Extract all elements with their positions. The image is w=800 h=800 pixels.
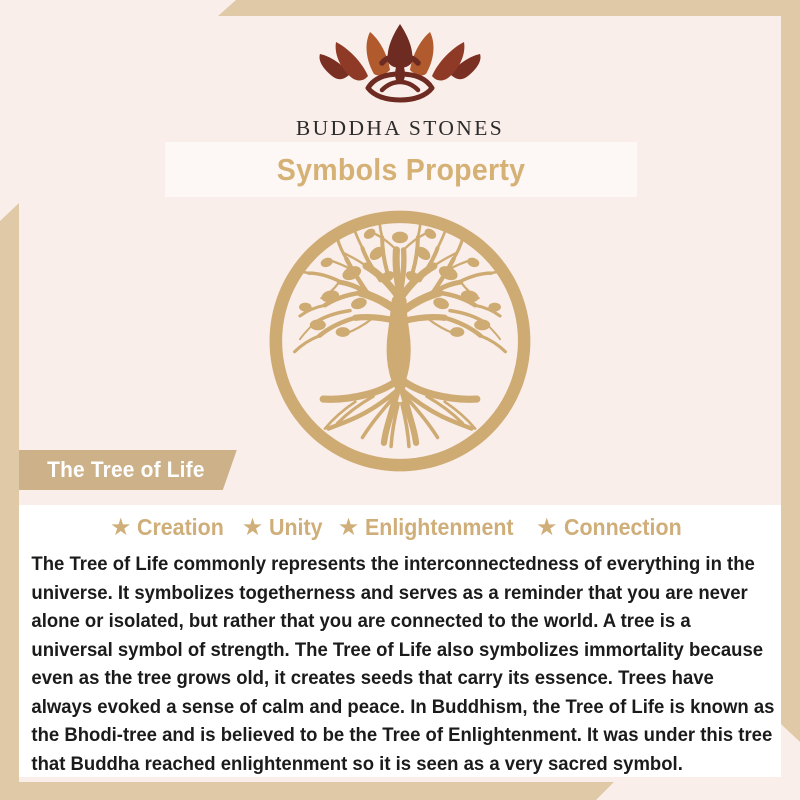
star-icon: ★ <box>242 516 264 540</box>
page-title-band: Symbols Property <box>165 142 637 197</box>
keyword-item: ★ Creation <box>110 514 231 541</box>
section-ribbon: The Tree of Life <box>19 450 237 490</box>
keyword-label: Enlightenment <box>365 514 514 541</box>
keyword-label: Creation <box>137 514 224 541</box>
keyword-label: Unity <box>269 514 322 541</box>
tree-of-life-circle-icon <box>266 207 534 475</box>
lotus-meditation-figure-icon <box>312 20 488 112</box>
symbols-property-infographic: BUDDHA STONES Symbols Property <box>0 0 800 800</box>
star-icon: ★ <box>338 516 360 540</box>
content-card: ★ Creation ★ Unity ★ Enlightenment ★ Con… <box>19 505 781 777</box>
brand-logo: BUDDHA STONES <box>0 20 800 141</box>
keyword-item: ★ Connection <box>536 514 690 541</box>
star-icon: ★ <box>536 516 558 540</box>
section-body-text: The Tree of Life commonly represents the… <box>19 550 789 778</box>
page-title: Symbols Property <box>277 152 526 188</box>
keyword-list: ★ Creation ★ Unity ★ Enlightenment ★ Con… <box>19 514 781 541</box>
keyword-item: ★ Unity <box>242 514 327 541</box>
star-icon: ★ <box>110 516 132 540</box>
keyword-label: Connection <box>564 514 682 541</box>
frame-band-bottom <box>0 782 614 800</box>
keyword-item: ★ Enlightenment <box>338 514 525 541</box>
frame-band-top <box>218 0 800 16</box>
brand-name: BUDDHA STONES <box>296 116 504 141</box>
section-ribbon-label: The Tree of Life <box>47 457 205 483</box>
